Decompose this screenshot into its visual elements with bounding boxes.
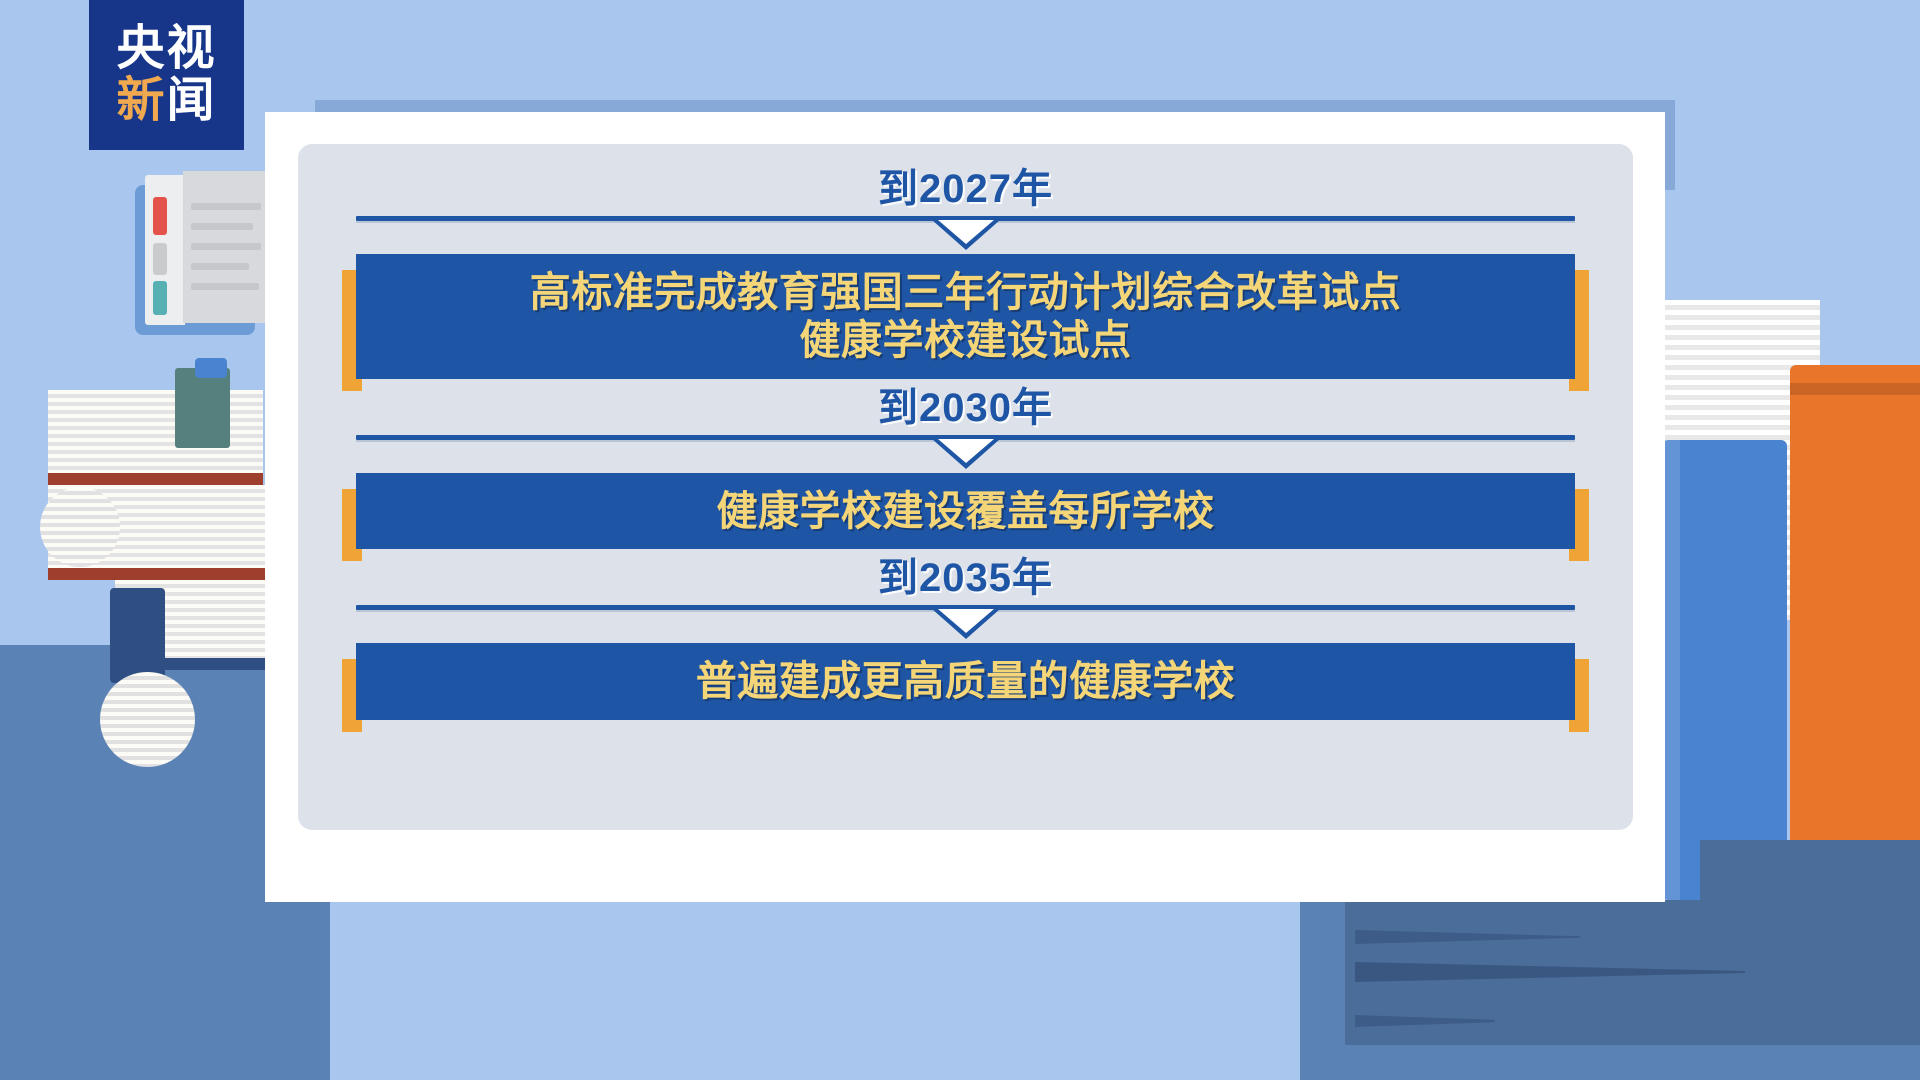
chevron-down-inner-icon: [938, 609, 994, 633]
rolled-book: [40, 487, 120, 567]
timeline-content: 到2027年 高标准完成教育强国三年行动计划综合改革试点 健康学校建设试点 到2…: [298, 144, 1633, 830]
chevron-down-inner-icon: [938, 439, 994, 463]
banner-wrap-2027: 高标准完成教育强国三年行动计划综合改革试点 健康学校建设试点: [356, 254, 1575, 379]
logo-line-cctv: 央视: [116, 24, 216, 74]
info-panel: 到2027年 高标准完成教育强国三年行动计划综合改革试点 健康学校建设试点 到2…: [298, 144, 1633, 830]
year-label-2030: 到2030年: [356, 385, 1575, 431]
year-label-2027: 到2027年: [356, 166, 1575, 212]
bookmark-teal-icon: [153, 281, 167, 315]
logo-char-wen: 闻: [167, 72, 217, 128]
navy-book: [110, 588, 165, 683]
teal-book: [175, 368, 230, 448]
banner-wrap-2035: 普遍建成更高质量的健康学校: [356, 643, 1575, 719]
shelf-right: [1700, 840, 1920, 910]
floor-right-bottom: [1345, 1045, 1920, 1080]
book-page-right: [183, 171, 273, 323]
blue-book-top: [195, 358, 227, 378]
banner-2030: 健康学校建设覆盖每所学校: [356, 473, 1575, 549]
divider-2030: [356, 435, 1575, 471]
timeline-section-2027: 到2027年 高标准完成教育强国三年行动计划综合改革试点 健康学校建设试点: [356, 166, 1575, 379]
banner-2027: 高标准完成教育强国三年行动计划综合改革试点 健康学校建设试点: [356, 254, 1575, 379]
timeline-section-2030: 到2030年 健康学校建设覆盖每所学校: [356, 385, 1575, 549]
standing-book-orange: [1790, 365, 1920, 900]
info-card: 到2027年 高标准完成教育强国三年行动计划综合改革试点 健康学校建设试点 到2…: [265, 112, 1665, 902]
banner-2035: 普遍建成更高质量的健康学校: [356, 643, 1575, 719]
banner-text-2030: 健康学校建设覆盖每所学校: [717, 487, 1215, 535]
book-stack-upper: [48, 390, 263, 485]
open-book-icon: [135, 185, 255, 335]
bookmark-red-icon: [153, 197, 167, 235]
chevron-down-inner-icon: [938, 220, 994, 244]
channel-logo: 央视 新闻: [89, 0, 244, 150]
year-label-2035: 到2035年: [356, 555, 1575, 601]
bookmark-gray-icon: [153, 243, 167, 275]
banner-text-2027: 高标准完成教育强国三年行动计划综合改革试点 健康学校建设试点: [530, 268, 1402, 365]
banner-wrap-2030: 健康学校建设覆盖每所学校: [356, 473, 1575, 549]
banner-text-2035: 普遍建成更高质量的健康学校: [696, 657, 1236, 705]
logo-line-news: 新闻: [116, 76, 216, 126]
divider-2035: [356, 605, 1575, 641]
timeline-section-2035: 到2035年 普遍建成更高质量的健康学校: [356, 555, 1575, 719]
divider-2027: [356, 216, 1575, 252]
standing-book-blue: [1662, 440, 1787, 900]
rolled-book-2: [100, 672, 195, 767]
logo-char-xin: 新: [116, 72, 166, 128]
